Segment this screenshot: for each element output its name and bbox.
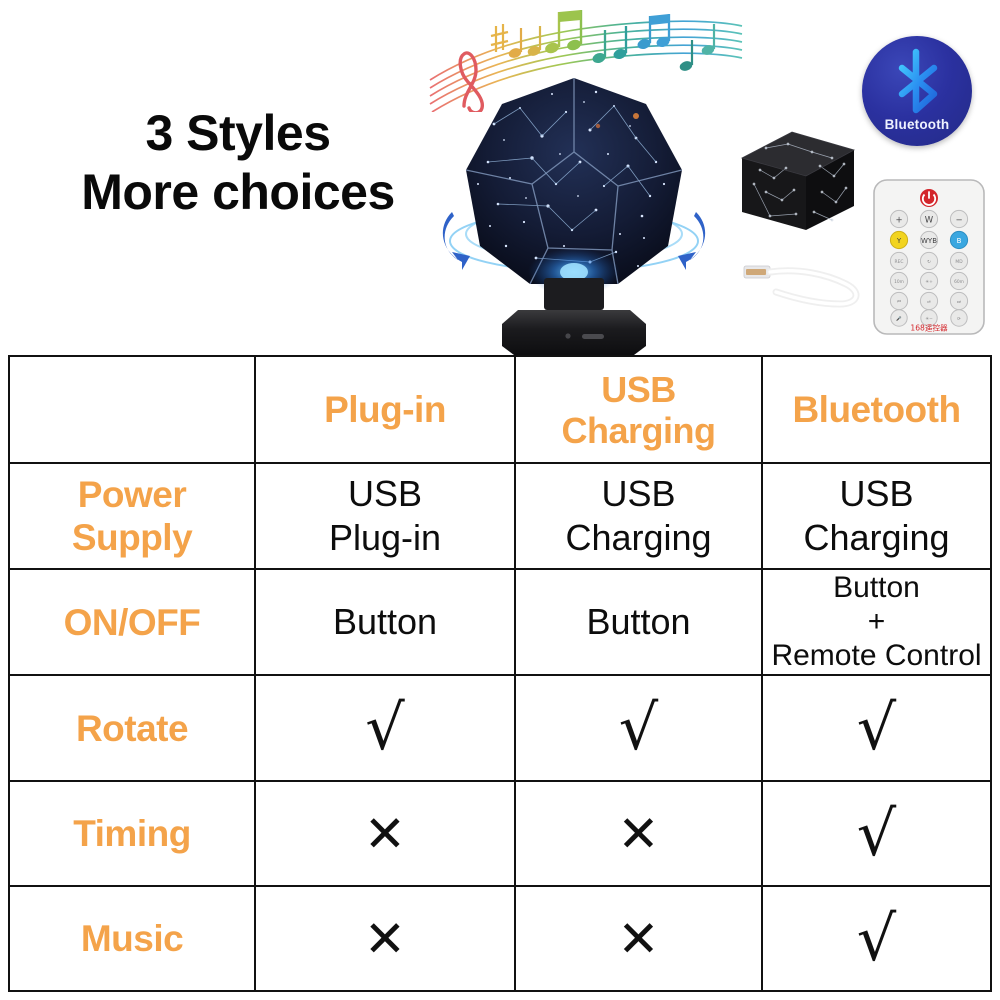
- remote-control-icon: +W− YWYBB REC↻MD 10m☀+60m ⏮⏯⏭ 🎤☀−⟳: [872, 178, 986, 336]
- remote-footer-label: 168遥控器: [910, 323, 948, 333]
- check-icon: √: [857, 697, 897, 759]
- table-row-music: Music ✕ ✕ √: [9, 886, 991, 991]
- svg-text:10m: 10m: [894, 279, 904, 285]
- svg-text:☀+: ☀+: [925, 279, 933, 285]
- row-label-power-line2: Supply: [14, 516, 250, 559]
- row-label-timing: Timing: [9, 781, 255, 886]
- table-row-power-supply: Power Supply USB Plug-in USB Charging US…: [9, 463, 991, 569]
- table-header-row: Plug-in USB Charging Bluetooth: [9, 356, 991, 463]
- cell-onoff-bluetooth: Button + Remote Control: [762, 569, 991, 675]
- cell-power-usb: USB Charging: [515, 463, 762, 569]
- bluetooth-badge-label: Bluetooth: [862, 117, 972, 132]
- cell-power-plugin-line1: USB: [260, 472, 510, 516]
- cell-onoff-bt-line3: Remote Control: [767, 638, 986, 674]
- row-label-power-line1: Power: [14, 473, 250, 516]
- cell-onoff-plugin: Button: [255, 569, 515, 675]
- cell-onoff-usb: Button: [515, 569, 762, 675]
- comparison-table: Plug-in USB Charging Bluetooth Power Sup…: [8, 355, 992, 992]
- svg-text:W: W: [925, 216, 934, 226]
- bluetooth-icon: [890, 48, 946, 114]
- check-icon: √: [619, 697, 659, 759]
- cell-power-bt-line2: Charging: [767, 516, 986, 560]
- table-row-rotate: Rotate √ √ √: [9, 675, 991, 781]
- cell-rotate-plugin: √: [255, 675, 515, 781]
- cell-rotate-bluetooth: √: [762, 675, 991, 781]
- comparison-table-wrapper: Plug-in USB Charging Bluetooth Power Sup…: [8, 355, 990, 988]
- check-icon: √: [365, 697, 405, 759]
- cell-timing-plugin: ✕: [255, 781, 515, 886]
- cell-timing-bluetooth: √: [762, 781, 991, 886]
- header-usb-line1: USB: [520, 369, 757, 410]
- cell-power-usb-line1: USB: [520, 472, 757, 516]
- svg-text:⟳: ⟳: [957, 317, 961, 322]
- cell-music-plugin: ✕: [255, 886, 515, 991]
- svg-text:60m: 60m: [954, 279, 964, 285]
- svg-text:↻: ↻: [927, 260, 931, 265]
- cell-music-bluetooth: √: [762, 886, 991, 991]
- svg-text:⏯: ⏯: [927, 300, 931, 305]
- row-label-music: Music: [9, 886, 255, 991]
- cell-power-plugin-line2: Plug-in: [260, 516, 510, 560]
- header-cell-bluetooth: Bluetooth: [762, 356, 991, 463]
- infographic-page: 3 Styles More choices: [0, 0, 1000, 1000]
- cell-power-bluetooth: USB Charging: [762, 463, 991, 569]
- cell-power-bt-line1: USB: [767, 472, 986, 516]
- cross-icon: ✕: [618, 809, 660, 859]
- svg-text:B: B: [957, 237, 962, 245]
- constellation-gift-box-icon: [736, 126, 860, 236]
- row-label-rotate: Rotate: [9, 675, 255, 781]
- cell-power-usb-line2: Charging: [520, 516, 757, 560]
- bluetooth-badge: Bluetooth: [862, 36, 972, 146]
- svg-text:☀−: ☀−: [925, 316, 933, 322]
- hero-section: 3 Styles More choices: [0, 0, 1000, 356]
- table-row-onoff: ON/OFF Button Button Button + Remote Con…: [9, 569, 991, 675]
- svg-text:REC: REC: [895, 259, 904, 265]
- check-icon: √: [857, 908, 897, 970]
- svg-text:−: −: [955, 216, 962, 226]
- row-label-onoff: ON/OFF: [9, 569, 255, 675]
- svg-text:🎤: 🎤: [896, 315, 902, 322]
- header-cell-empty: [9, 356, 255, 463]
- cross-icon: ✕: [364, 914, 406, 964]
- header-cell-usb-charging: USB Charging: [515, 356, 762, 463]
- header-usb-line2: Charging: [520, 410, 757, 451]
- page-title: 3 Styles More choices: [38, 104, 438, 222]
- cell-onoff-bt-plus: +: [767, 606, 986, 638]
- header-cell-plugin: Plug-in: [255, 356, 515, 463]
- svg-text:⏮: ⏮: [897, 300, 901, 305]
- svg-text:+: +: [895, 216, 902, 226]
- row-label-power-supply: Power Supply: [9, 463, 255, 569]
- usb-cable-icon: [742, 248, 878, 310]
- svg-text:MD: MD: [955, 259, 963, 265]
- table-row-timing: Timing ✕ ✕ √: [9, 781, 991, 886]
- star-projector-lamp-icon: [432, 66, 716, 358]
- cell-rotate-usb: √: [515, 675, 762, 781]
- headline-line-2: More choices: [38, 162, 438, 222]
- svg-text:⏭: ⏭: [957, 300, 961, 305]
- cell-music-usb: ✕: [515, 886, 762, 991]
- check-icon: √: [857, 803, 897, 865]
- cross-icon: ✕: [618, 914, 660, 964]
- cell-onoff-bt-line1: Button: [767, 570, 986, 606]
- svg-text:WYB: WYB: [921, 237, 937, 245]
- headline-line-1: 3 Styles: [38, 104, 438, 162]
- svg-text:Y: Y: [896, 237, 902, 245]
- cross-icon: ✕: [364, 809, 406, 859]
- cell-timing-usb: ✕: [515, 781, 762, 886]
- cell-power-plugin: USB Plug-in: [255, 463, 515, 569]
